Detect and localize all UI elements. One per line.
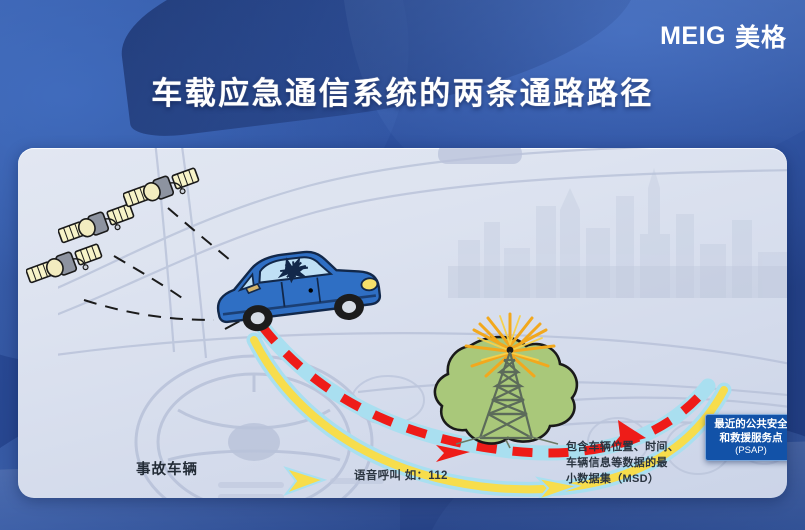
msd-note: 包含车辆位置、时间、 车辆信息等数据的最 小数据集（MSD）	[566, 440, 679, 488]
page-title: 车载应急通信系统的两条通路路径	[0, 68, 805, 113]
psap-box[interactable]: 最近的公共安全 和救援服务点 (PSAP)	[705, 414, 787, 461]
satellite-link-lines	[84, 208, 230, 320]
brand-logo-latin: MEIG	[660, 22, 726, 51]
brand-logo-cn: 美格	[735, 18, 787, 54]
msd-note-line-3: 小数据集（MSD）	[566, 472, 679, 488]
vehicle-label: 事故车辆	[136, 460, 198, 481]
msd-note-line-2: 车辆信息等数据的最	[566, 456, 679, 472]
msd-note-line-1: 包含车辆位置、时间、	[566, 440, 679, 456]
slide-canvas: MEIG 美格 车载应急通信系统的两条通路路径	[0, 0, 805, 530]
diagram-panel: 事故车辆 语音呼叫 如：112 数据呼叫 如：112 包含车辆位置、时间、 车辆…	[18, 148, 787, 498]
brand-logo: MEIG 美格	[660, 18, 787, 54]
cell-tower-group	[435, 314, 577, 448]
voice-path-arrowhead	[286, 468, 324, 494]
psap-abbr: (PSAP)	[735, 445, 767, 458]
psap-line-1: 最近的公共安全	[714, 417, 787, 431]
voice-call-label: 语音呼叫 如：112	[354, 468, 448, 485]
psap-line-2: 和救援服务点	[720, 431, 783, 445]
